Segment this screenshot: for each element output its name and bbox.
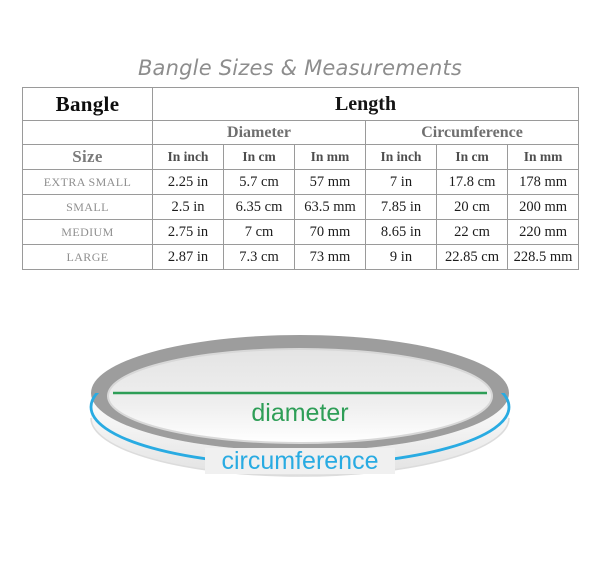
size-chart-table-container: Bangle Length Diameter Circumference Siz… — [22, 87, 578, 270]
page-title: Bangle Sizes & Measurements — [0, 56, 600, 80]
table-header-row-3: Size In inch In cm In mm In inch In cm I… — [23, 145, 579, 170]
cell-diameter-mm: 70 mm — [295, 220, 366, 245]
cell-circ-mm: 200 mm — [508, 195, 579, 220]
header-unit-circ-mm: In mm — [508, 145, 579, 170]
cell-diameter-mm: 63.5 mm — [295, 195, 366, 220]
cell-circ-inch: 9 in — [366, 245, 437, 270]
header-group-diameter: Diameter — [153, 121, 366, 145]
bangle-size-table: Bangle Length Diameter Circumference Siz… — [22, 87, 579, 270]
cell-diameter-cm: 7.3 cm — [224, 245, 295, 270]
cell-diameter-inch: 2.5 in — [153, 195, 224, 220]
header-length: Length — [153, 88, 579, 121]
cell-circ-cm: 22.85 cm — [437, 245, 508, 270]
circumference-label: circumference — [222, 447, 379, 475]
cell-circ-mm: 178 mm — [508, 170, 579, 195]
cell-circ-cm: 20 cm — [437, 195, 508, 220]
table-row: LARGE 2.87 in 7.3 cm 73 mm 9 in 22.85 cm… — [23, 245, 579, 270]
header-blank-cell — [23, 121, 153, 145]
cell-diameter-cm: 5.7 cm — [224, 170, 295, 195]
table-row: EXTRA SMALL 2.25 in 5.7 cm 57 mm 7 in 17… — [23, 170, 579, 195]
cell-diameter-mm: 57 mm — [295, 170, 366, 195]
cell-size-name: MEDIUM — [23, 220, 153, 245]
cell-diameter-inch: 2.25 in — [153, 170, 224, 195]
header-unit-diameter-cm: In cm — [224, 145, 295, 170]
cell-circ-inch: 7.85 in — [366, 195, 437, 220]
cell-diameter-mm: 73 mm — [295, 245, 366, 270]
cell-size-name: SMALL — [23, 195, 153, 220]
cell-diameter-cm: 7 cm — [224, 220, 295, 245]
header-unit-diameter-inch: In inch — [153, 145, 224, 170]
cell-circ-mm: 228.5 mm — [508, 245, 579, 270]
header-bangle: Bangle — [23, 88, 153, 121]
bangle-diagram: diameter circumference — [0, 322, 600, 522]
cell-circ-cm: 22 cm — [437, 220, 508, 245]
cell-circ-cm: 17.8 cm — [437, 170, 508, 195]
table-header-row-2: Diameter Circumference — [23, 121, 579, 145]
table-header-row-1: Bangle Length — [23, 88, 579, 121]
diameter-label: diameter — [251, 399, 348, 427]
cell-diameter-inch: 2.87 in — [153, 245, 224, 270]
cell-size-name: LARGE — [23, 245, 153, 270]
cell-diameter-inch: 2.75 in — [153, 220, 224, 245]
cell-diameter-cm: 6.35 cm — [224, 195, 295, 220]
bangle-illustration: diameter circumference — [0, 322, 600, 522]
table-row: SMALL 2.5 in 6.35 cm 63.5 mm 7.85 in 20 … — [23, 195, 579, 220]
cell-circ-mm: 220 mm — [508, 220, 579, 245]
header-size: Size — [23, 145, 153, 170]
header-unit-circ-inch: In inch — [366, 145, 437, 170]
cell-circ-inch: 8.65 in — [366, 220, 437, 245]
header-unit-circ-cm: In cm — [437, 145, 508, 170]
header-unit-diameter-mm: In mm — [295, 145, 366, 170]
header-group-circumference: Circumference — [366, 121, 579, 145]
cell-circ-inch: 7 in — [366, 170, 437, 195]
cell-size-name: EXTRA SMALL — [23, 170, 153, 195]
table-row: MEDIUM 2.75 in 7 cm 70 mm 8.65 in 22 cm … — [23, 220, 579, 245]
